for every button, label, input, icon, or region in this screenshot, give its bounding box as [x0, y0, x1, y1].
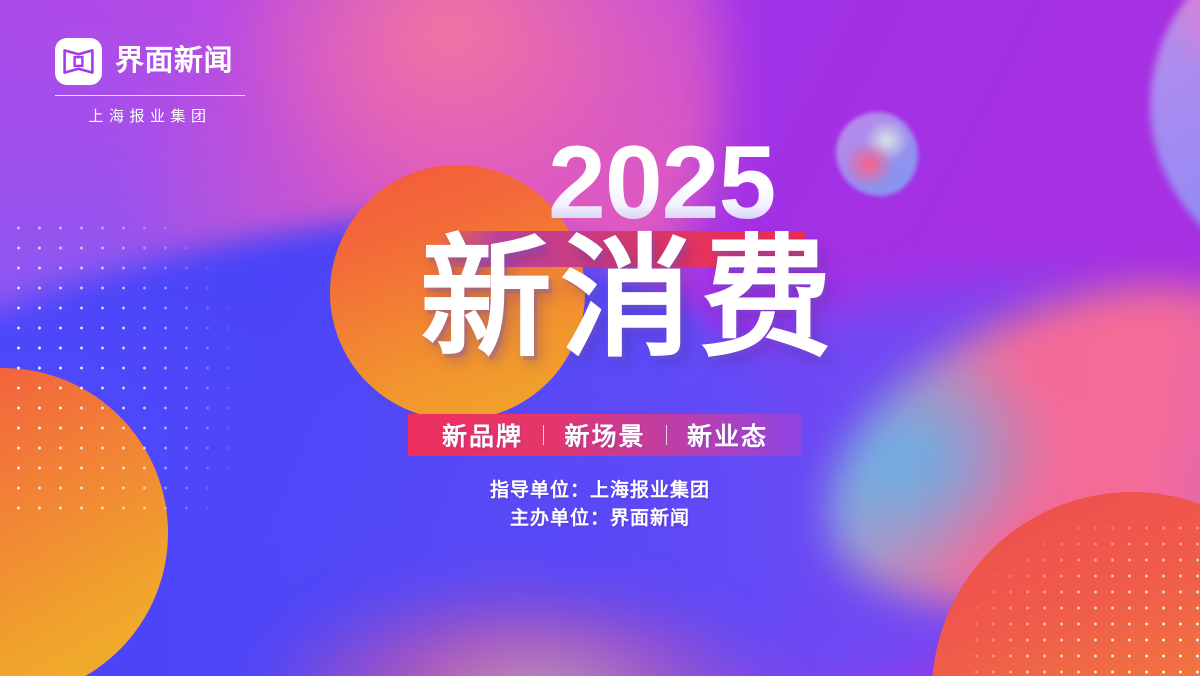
credits-block: 指导单位：上海报业集团 主办单位：界面新闻 [0, 477, 1200, 533]
year-text: 2025 [548, 131, 775, 235]
tagline-bar: 新品牌 新场景 新业态 [408, 414, 802, 456]
tagline-separator-2 [666, 425, 668, 445]
tagline-item-1: 新品牌 [442, 417, 523, 453]
page-title: 新消费 [420, 232, 840, 367]
guidance-unit-line: 指导单位：上海报业集团 [0, 477, 1200, 505]
poster-canvas: 界面新闻 上海报业集团 2025 新消费 新品牌 新场景 新业态 指导单位：上海… [0, 0, 1200, 676]
tagline-separator-1 [543, 425, 545, 445]
organizer-unit-line: 主办单位：界面新闻 [0, 505, 1200, 533]
headline-block: 2025 新消费 新品牌 新场景 新业态 指导单位：上海报业集团 主办单位：界面… [0, 0, 1200, 676]
tagline-item-3: 新业态 [687, 417, 768, 453]
tagline-item-2: 新场景 [564, 417, 645, 453]
